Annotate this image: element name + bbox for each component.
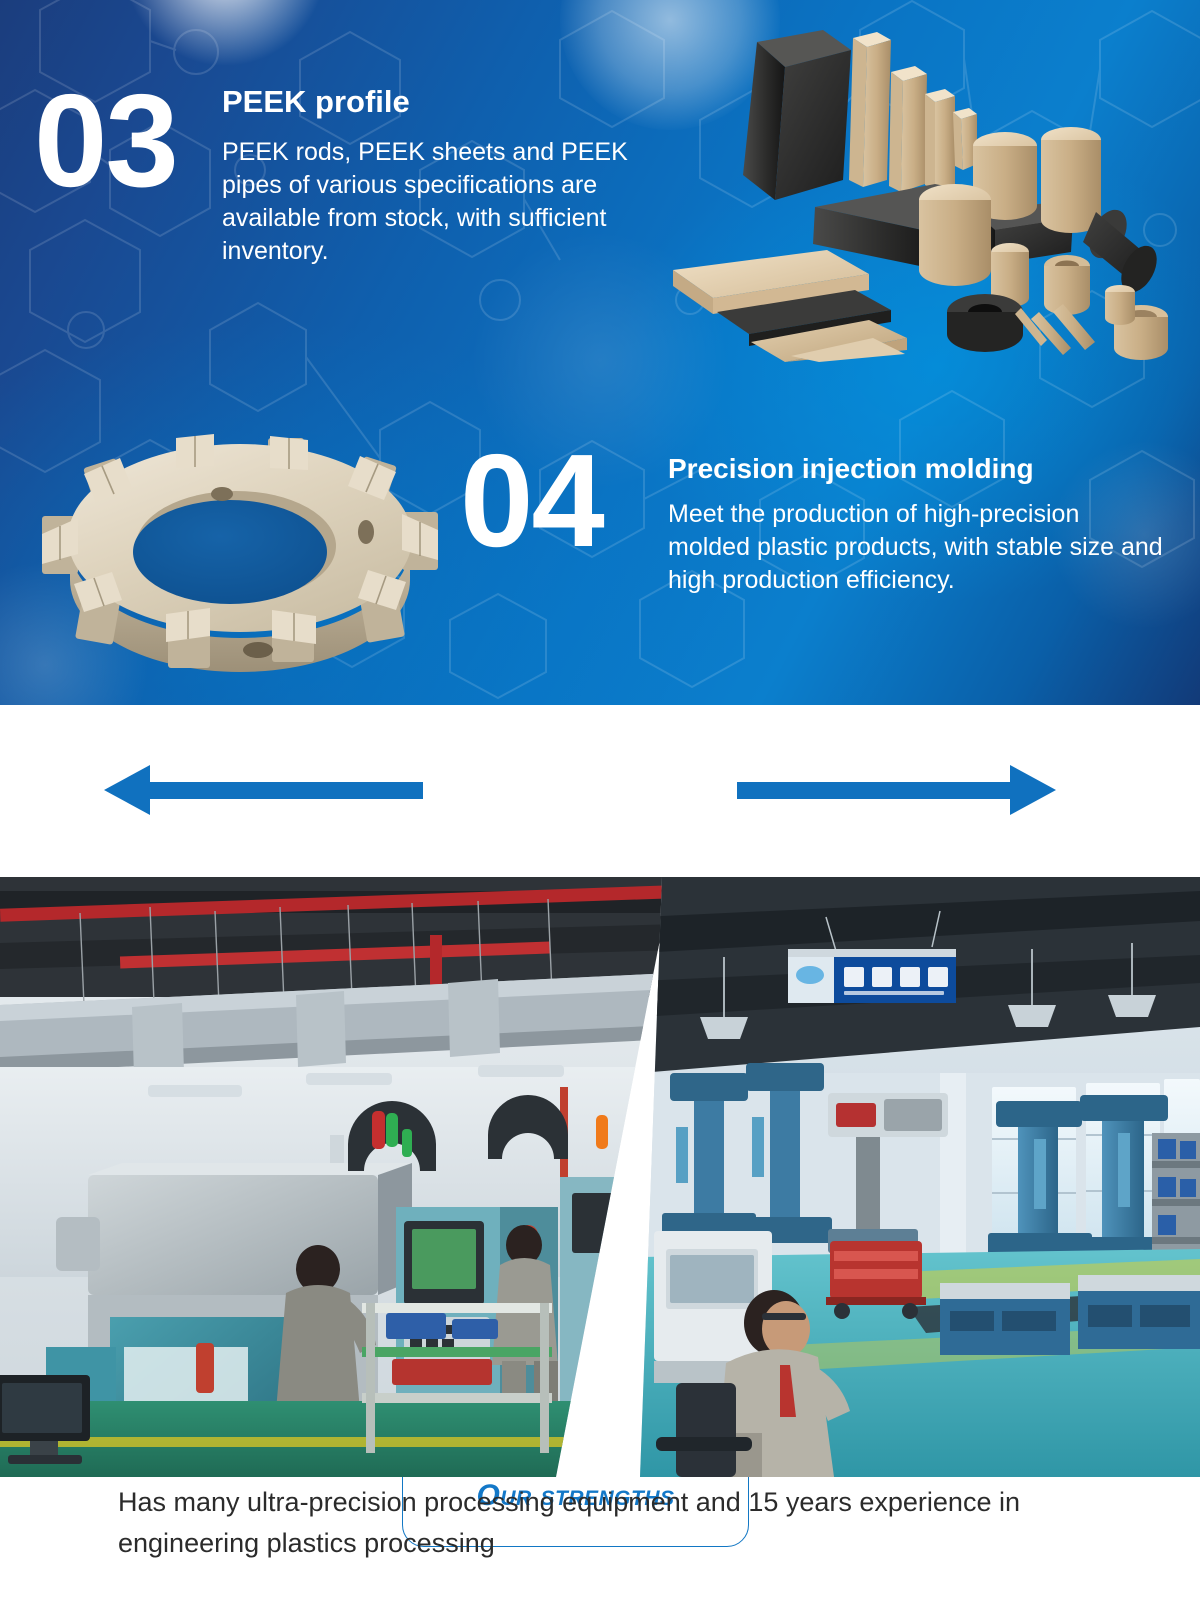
cnc-machining-workshop-photo [0,877,672,1477]
tan-sheets-stack [673,250,907,362]
peek-profile-products-image [655,12,1200,362]
feature-body-04: Meet the production of high-precision mo… [668,498,1168,597]
tan-square-rods [849,32,977,192]
our-strengths-banner: Our strengths [0,705,1200,875]
feature-number-03: 03 [34,80,177,202]
black-ring-washer [947,294,1023,352]
tan-cylinder-small-2 [1105,285,1135,325]
feature-item-04: 04 Precision injection molding Meet the … [440,440,1180,660]
arrow-left [104,765,423,815]
feature-text-04: Precision injection molding Meet the pro… [668,452,1168,597]
feature-number-04: 04 [460,440,603,562]
black-tube-tilted [1082,204,1164,299]
tan-cylinder-large-2 [1041,127,1101,233]
page-caption: Has many ultra-precision processing equi… [0,1482,1200,1564]
feature-body-03: PEEK rods, PEEK sheets and PEEK pipes of… [222,136,672,268]
work-bench-1 [940,1283,1070,1355]
features-blue-panel: 03 PEEK profile PEEK rods, PEEK sheets a… [0,0,1200,705]
black-block-tall [743,30,851,200]
feature-item-03: 03 PEEK profile PEEK rods, PEEK sheets a… [22,78,662,338]
feature-title-04: Precision injection molding [668,452,1168,486]
feature-title-03: PEEK profile [222,84,672,120]
peek-gear-ring-image [30,398,450,678]
arrow-right [737,765,1056,815]
factory-photos [0,877,1200,1477]
tan-tube-hollow [1044,255,1090,315]
feature-text-03: PEEK profile PEEK rods, PEEK sheets and … [222,84,672,268]
double-arrow-graphic [0,705,1200,875]
tan-cylinder-front [919,184,991,286]
work-bench-2 [1078,1275,1200,1349]
mold-workshop-photo [640,877,1200,1477]
